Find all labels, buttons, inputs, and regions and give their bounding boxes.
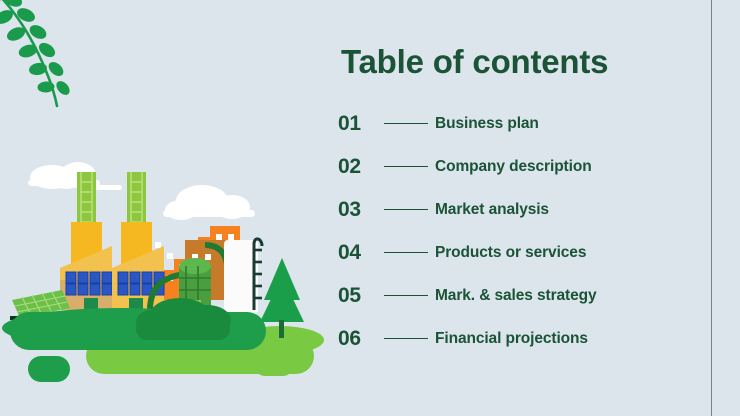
toc-label: Products or services xyxy=(435,244,586,262)
cloud-large xyxy=(163,185,255,220)
toc-dash-icon xyxy=(384,209,428,210)
toc-number: 03 xyxy=(338,198,384,222)
toc-number: 02 xyxy=(338,155,384,179)
vertical-divider xyxy=(711,0,712,416)
toc-item-04[interactable]: 04 Products or services xyxy=(338,231,698,274)
toc-dash-icon xyxy=(384,252,428,253)
toc-list: 01 Business plan 02 Company description … xyxy=(338,102,698,360)
toc-label: Company description xyxy=(435,158,592,176)
toc-label: Mark. & sales strategy xyxy=(435,287,597,305)
toc-item-03[interactable]: 03 Market analysis xyxy=(338,188,698,231)
cloud-small xyxy=(28,162,122,190)
toc-label: Market analysis xyxy=(435,201,549,219)
toc-dash-icon xyxy=(384,295,428,296)
toc-number: 06 xyxy=(338,327,384,351)
toc-number: 05 xyxy=(338,284,384,308)
eco-factory-illustration xyxy=(0,150,330,416)
toc-label: Financial projections xyxy=(435,330,588,348)
table-of-contents-panel: Table of contents 01 Business plan 02 Co… xyxy=(338,44,698,360)
toc-dash-icon xyxy=(384,166,428,167)
leafy-vine-icon xyxy=(0,0,106,120)
toc-number: 01 xyxy=(338,112,384,136)
toc-number: 04 xyxy=(338,241,384,265)
white-storage-tank xyxy=(224,239,262,314)
toc-item-02[interactable]: 02 Company description xyxy=(338,145,698,188)
slide-canvas: Table of contents 01 Business plan 02 Co… xyxy=(0,0,740,416)
toc-dash-icon xyxy=(384,338,428,339)
page-title: Table of contents xyxy=(341,44,698,80)
toc-dash-icon xyxy=(384,123,428,124)
toc-label: Business plan xyxy=(435,115,539,133)
toc-item-01[interactable]: 01 Business plan xyxy=(338,102,698,145)
pine-tree xyxy=(260,258,304,338)
toc-item-05[interactable]: 05 Mark. & sales strategy xyxy=(338,274,698,317)
toc-item-06[interactable]: 06 Financial projections xyxy=(338,317,698,360)
